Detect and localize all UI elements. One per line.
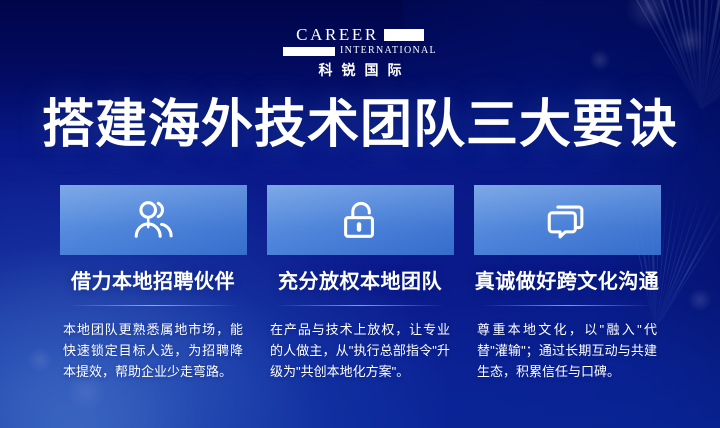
poster-content: CAREER INTERNATIONAL 科锐国际 搭建海外技术团队三大要诀 借… [0, 0, 720, 428]
feature-card-list: 借力本地招聘伙伴本地团队更熟悉属地市场，能快速锁定目标人选，为招聘降本提效，帮助… [0, 185, 720, 382]
users-icon [130, 197, 176, 243]
feature-card-heading: 真诚做好跨文化沟通 [475, 270, 660, 294]
feature-card-divider [68, 305, 238, 306]
feature-card-icon-panel [267, 185, 454, 255]
logo-top-row: CAREER [296, 26, 424, 43]
page-title: 搭建海外技术团队三大要诀 [0, 95, 720, 155]
feature-card-body: 尊重本地文化，以"融入"代替"灌输"；通过长期互动与共建生态，积累信任与口碑。 [477, 319, 657, 382]
feature-card-heading: 充分放权本地团队 [278, 270, 442, 294]
feature-card-heading: 借力本地招聘伙伴 [71, 270, 235, 294]
logo-block-left [283, 47, 335, 56]
feature-card-1: 借力本地招聘伙伴本地团队更熟悉属地市场，能快速锁定目标人选，为招聘降本提效，帮助… [60, 185, 247, 382]
chat-bubbles-icon [544, 197, 590, 243]
logo-bottom-row: INTERNATIONAL [283, 45, 437, 57]
feature-card-body: 在产品与技术上放权，让专业的人做主，从"执行总部指令"升级为"共创本地化方案"。 [270, 319, 450, 382]
feature-card-body: 本地团队更熟悉属地市场，能快速锁定目标人选，为招聘降本提效，帮助企业少走弯路。 [63, 319, 243, 382]
unlock-icon [337, 197, 383, 243]
logo-chinese-text: 科锐国际 [310, 62, 411, 78]
logo-career-text: CAREER [296, 26, 379, 43]
feature-card-2: 充分放权本地团队在产品与技术上放权，让专业的人做主，从"执行总部指令"升级为"共… [267, 185, 454, 382]
logo-international-text: INTERNATIONAL [340, 46, 437, 56]
feature-card-3: 真诚做好跨文化沟通尊重本地文化，以"融入"代替"灌输"；通过长期互动与共建生态，… [474, 185, 661, 382]
feature-card-icon-panel [60, 185, 247, 255]
feature-card-icon-panel [474, 185, 661, 255]
feature-card-divider [482, 305, 652, 306]
logo-block-right [384, 29, 424, 41]
feature-card-divider [275, 305, 445, 306]
brand-logo: CAREER INTERNATIONAL 科锐国际 [0, 26, 720, 78]
